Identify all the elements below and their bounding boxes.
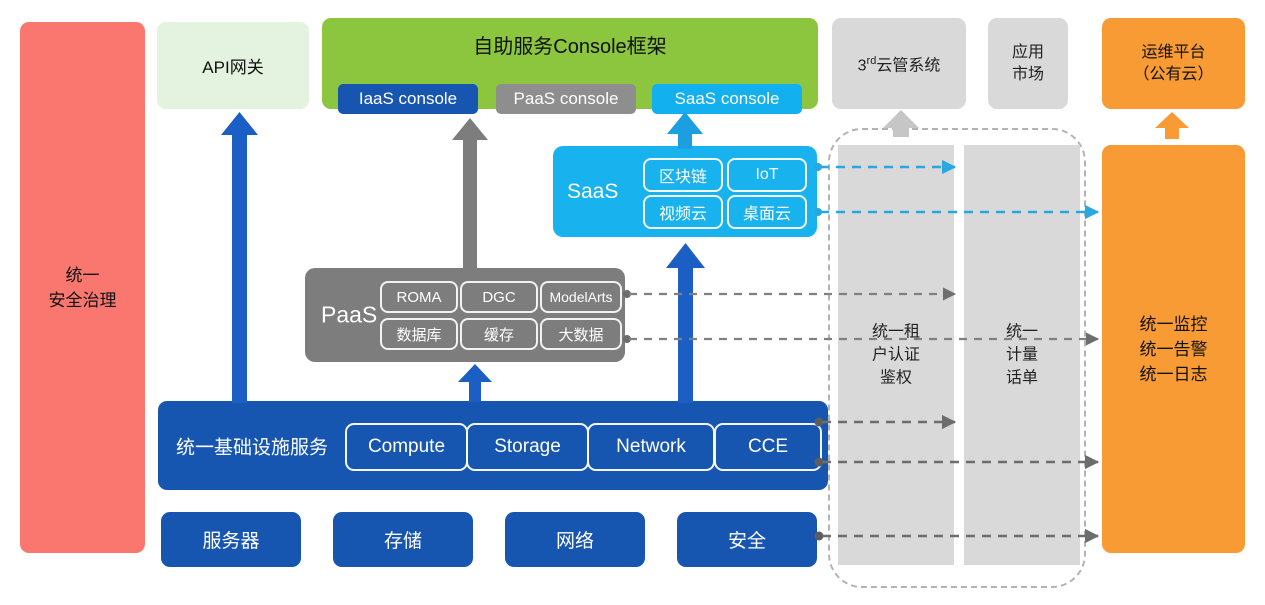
arrow-saas-to-console — [667, 112, 703, 149]
app-market-label: 应用 市场 — [1012, 42, 1044, 86]
base-box-storage[interactable]: 存储 — [333, 512, 473, 567]
third-party-cloud-label: 3rd云管系统 — [858, 50, 941, 77]
tenant-auth-line-1: 统一租 — [838, 321, 954, 344]
self-service-console-framework: 自助服务Console框架 IaaS console PaaS console … — [322, 18, 818, 109]
third-party-cloud-management-box[interactable]: 3rd云管系统 — [832, 18, 966, 109]
paas-item-dgc[interactable]: DGC — [460, 281, 538, 313]
tenant-auth-line-3: 鉴权 — [838, 367, 954, 390]
infra-item-cce[interactable]: CCE — [714, 423, 822, 471]
paas-item-modelarts[interactable]: ModelArts — [540, 281, 622, 313]
ops-platform-box[interactable]: 运维平台 （公有云） — [1102, 18, 1245, 109]
ops-platform-line-2: （公有云） — [1133, 64, 1213, 86]
base-box-network[interactable]: 网络 — [505, 512, 645, 567]
paas-item-database[interactable]: 数据库 — [380, 318, 458, 350]
base-box-security[interactable]: 安全 — [677, 512, 817, 567]
security-line-1: 统一 — [49, 263, 117, 288]
third-party-rest: 云管系统 — [876, 57, 940, 74]
tenant-auth-line-2: 户认证 — [838, 344, 954, 367]
monitoring-line-1: 统一监控 — [1140, 312, 1208, 337]
infra-item-compute[interactable]: Compute — [345, 423, 468, 471]
paas-console-chip[interactable]: PaaS console — [496, 84, 636, 114]
paas-block: PaaS ROMA DGC ModelArts 数据库 缓存 大数据 — [305, 268, 625, 362]
paas-item-bigdata[interactable]: 大数据 — [540, 318, 622, 350]
saas-item-iot[interactable]: IoT — [727, 158, 807, 192]
app-market-line-2: 市场 — [1012, 64, 1044, 86]
api-gateway-box[interactable]: API网关 — [157, 22, 309, 109]
metering-billing-column[interactable]: 统一 计量 话单 — [964, 145, 1080, 565]
metering-line-2: 计量 — [964, 344, 1080, 367]
security-governance-label: 统一 安全治理 — [49, 263, 117, 313]
saas-item-desktop-cloud[interactable]: 桌面云 — [727, 195, 807, 229]
arrow-infra-to-saas — [666, 243, 705, 403]
arrow-infra-to-api-gateway — [221, 112, 258, 403]
app-market-line-1: 应用 — [1012, 42, 1044, 64]
third-party-sup: rd — [867, 55, 877, 67]
saas-item-video-cloud[interactable]: 视频云 — [643, 195, 723, 229]
paas-item-cache[interactable]: 缓存 — [460, 318, 538, 350]
third-party-prefix: 3 — [858, 57, 867, 74]
arrow-up-ops-platform — [1155, 112, 1189, 139]
api-gateway-label: API网关 — [202, 53, 263, 78]
console-framework-title: 自助服务Console框架 — [322, 30, 818, 59]
saas-console-chip[interactable]: SaaS console — [652, 84, 802, 114]
monitoring-panel-label: 统一监控 统一告警 统一日志 — [1140, 312, 1208, 387]
tenant-auth-column[interactable]: 统一租 户认证 鉴权 — [838, 145, 954, 565]
security-line-2: 安全治理 — [49, 288, 117, 313]
metering-billing-label: 统一 计量 话单 — [964, 321, 1080, 390]
monitoring-panel[interactable]: 统一监控 统一告警 统一日志 — [1102, 145, 1245, 553]
paas-block-label: PaaS — [321, 302, 377, 329]
tenant-auth-label: 统一租 户认证 鉴权 — [838, 321, 954, 390]
metering-line-1: 统一 — [964, 321, 1080, 344]
arrow-infra-to-paas — [458, 364, 492, 402]
metering-line-3: 话单 — [964, 367, 1080, 390]
infra-item-network[interactable]: Network — [587, 423, 715, 471]
saas-item-blockchain[interactable]: 区块链 — [643, 158, 723, 192]
infrastructure-label: 统一基础设施服务 — [176, 432, 328, 459]
ops-platform-line-1: 运维平台 — [1133, 42, 1213, 64]
saas-block: SaaS 区块链 IoT 视频云 桌面云 — [553, 146, 817, 237]
monitoring-line-2: 统一告警 — [1140, 337, 1208, 362]
arrow-paas-to-console — [452, 118, 488, 270]
ops-platform-label: 运维平台 （公有云） — [1133, 42, 1213, 86]
app-market-box[interactable]: 应用 市场 — [988, 18, 1068, 109]
base-box-server[interactable]: 服务器 — [161, 512, 301, 567]
security-governance-panel: 统一 安全治理 — [20, 22, 145, 553]
saas-block-label: SaaS — [567, 180, 618, 204]
infra-item-storage[interactable]: Storage — [466, 423, 589, 471]
infrastructure-bar: 统一基础设施服务 Compute Storage Network CCE — [158, 401, 828, 490]
paas-item-roma[interactable]: ROMA — [380, 281, 458, 313]
iaas-console-chip[interactable]: IaaS console — [338, 84, 478, 114]
monitoring-line-3: 统一日志 — [1140, 362, 1208, 387]
